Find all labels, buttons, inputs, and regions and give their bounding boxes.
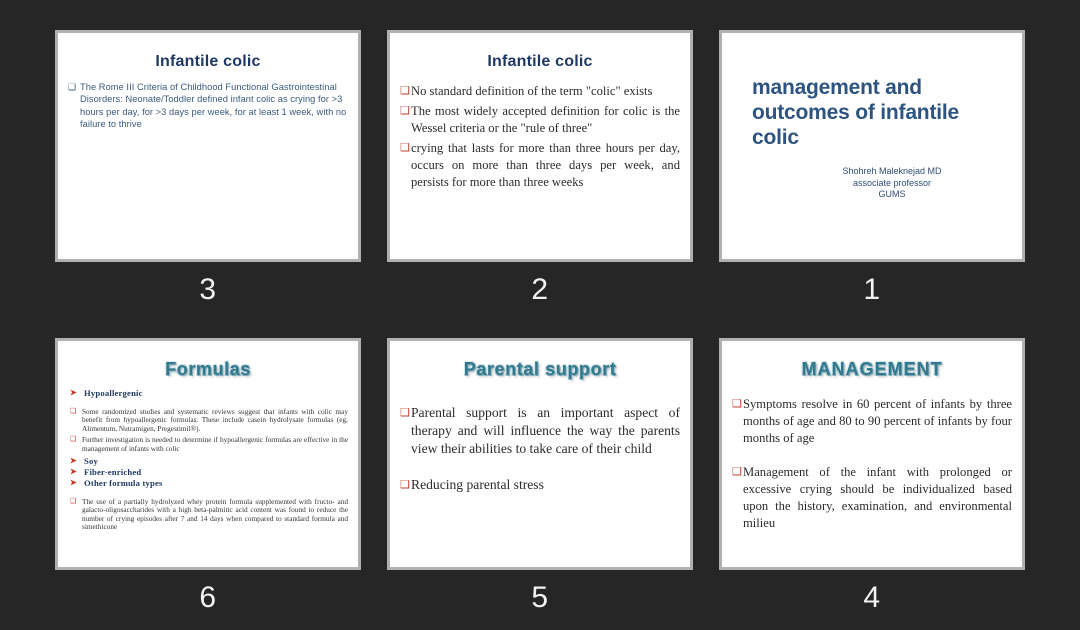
hollow-square-bullet-icon: ❑ (70, 498, 76, 506)
slide-number-1: 1 (719, 270, 1025, 310)
slide-frame-1[interactable]: management and outcomes of infantile col… (719, 30, 1025, 262)
subheading-text: Hypoallergenic (84, 388, 143, 398)
slide-thumbnail-grid: Infantile colic ❑The Rome III Criteria o… (0, 0, 1080, 630)
hollow-square-bullet-icon: ❑ (70, 436, 76, 444)
slide-frame-3[interactable]: Infantile colic ❑The Rome III Criteria o… (55, 30, 361, 262)
bullet-text: Management of the infant with prolonged … (743, 465, 1012, 530)
list-item: ❑Parental support is an important aspect… (400, 404, 680, 458)
list-item: ❑Reducing parental stress (400, 476, 680, 494)
bullet-text: The most widely accepted definition for … (411, 104, 680, 135)
slide-body-2: ❑No standard definition of the term "col… (400, 81, 680, 191)
author-block: Shohreh Maleknejad MD associate professo… (732, 166, 1012, 201)
hollow-square-bullet-icon: ❑ (70, 408, 76, 416)
slide-number-6: 6 (55, 578, 361, 618)
slide-frame-2[interactable]: Infantile colic ❑No standard definition … (387, 30, 693, 262)
bullet-text: Reducing parental stress (411, 477, 544, 492)
list-item: ❑No standard definition of the term "col… (400, 83, 680, 100)
author-name: Shohreh Maleknejad MD (772, 166, 1012, 178)
slide-frame-6[interactable]: Formulas ➤ Hypoallergenic ❑Some randomiz… (55, 338, 361, 570)
slide-thumbnail-5[interactable]: Parental support ❑Parental support is an… (387, 338, 693, 618)
slide-number-5: 5 (387, 578, 693, 618)
hollow-square-bullet-icon: ❑ (400, 83, 410, 100)
list-item: ❑The Rome III Criteria of Childhood Func… (68, 81, 348, 131)
bullet-text: The use of a partially hydrolyzed whey p… (82, 497, 348, 531)
subheading-text: Other formula types (84, 478, 163, 488)
arrow-bullet-icon: ➤ (70, 387, 77, 398)
hollow-square-bullet-icon: ❑ (400, 140, 410, 157)
author-affiliation: GUMS (772, 189, 1012, 201)
slide-thumbnail-6[interactable]: Formulas ➤ Hypoallergenic ❑Some randomiz… (55, 338, 361, 618)
slide-bullets-4: ❑Symptoms resolve in 60 percent of infan… (732, 396, 1012, 532)
slide-title-2: Infantile colic (400, 53, 680, 71)
slide-content-4: MANAGEMENT ❑Symptoms resolve in 60 perce… (722, 341, 1022, 567)
slide-number-4: 4 (719, 578, 1025, 618)
slide-content-2: Infantile colic ❑No standard definition … (390, 33, 690, 259)
list-item: ❑The most widely accepted definition for… (400, 103, 680, 137)
slide-body-4: ❑Symptoms resolve in 60 percent of infan… (732, 388, 1012, 532)
hollow-square-bullet-icon: ❑ (400, 404, 410, 422)
bullet-text: Parental support is an important aspect … (411, 405, 680, 456)
bullet-text: crying that lasts for more than three ho… (411, 141, 680, 189)
slide-content-3: Infantile colic ❑The Rome III Criteria o… (58, 33, 358, 259)
author-role: associate professor (772, 178, 1012, 190)
slide-content-6: Formulas ➤ Hypoallergenic ❑Some randomiz… (58, 341, 358, 567)
subheading-soy: ➤ Soy (68, 456, 348, 467)
slide-title-3: Infantile colic (68, 53, 348, 71)
slide-thumbnail-4[interactable]: MANAGEMENT ❑Symptoms resolve in 60 perce… (719, 338, 1025, 618)
slide-content-5: Parental support ❑Parental support is an… (390, 341, 690, 567)
slide-title-4: MANAGEMENT (732, 359, 1012, 380)
arrow-bullet-icon: ➤ (70, 477, 77, 488)
slide-frame-5[interactable]: Parental support ❑Parental support is an… (387, 338, 693, 570)
hollow-square-bullet-icon: ❑ (400, 476, 410, 494)
subheading-fiber-enriched: ➤ Fiber-enriched (68, 467, 348, 478)
subheading-text: Fiber-enriched (84, 467, 141, 477)
slide-bullets-5: ❑Parental support is an important aspect… (400, 404, 680, 494)
slide-bullets-2: ❑No standard definition of the term "col… (400, 83, 680, 191)
arrow-bullet-icon: ➤ (70, 455, 77, 466)
hollow-square-bullet-icon: ❑ (732, 396, 742, 413)
slide-frame-4[interactable]: MANAGEMENT ❑Symptoms resolve in 60 perce… (719, 338, 1025, 570)
list-item: ❑Management of the infant with prolonged… (732, 464, 1012, 532)
slide-number-3: 3 (55, 270, 361, 310)
slide-number-2: 2 (387, 270, 693, 310)
subheading-text: Soy (84, 456, 98, 466)
slide-thumbnail-1[interactable]: management and outcomes of infantile col… (719, 30, 1025, 310)
list-item: ❑Further investigation is needed to dete… (68, 436, 348, 453)
hollow-square-bullet-icon: ❑ (732, 464, 742, 481)
slide-bullets-6-group-1: ❑Some randomized studies and systematic … (68, 408, 348, 453)
bullet-text: Some randomized studies and systematic r… (82, 407, 348, 433)
slide-thumbnail-3[interactable]: Infantile colic ❑The Rome III Criteria o… (55, 30, 361, 310)
hollow-square-bullet-icon: ❑ (68, 81, 76, 93)
slide-title-5: Parental support (400, 359, 680, 380)
list-item: ❑Symptoms resolve in 60 percent of infan… (732, 396, 1012, 447)
bullet-text: Symptoms resolve in 60 percent of infant… (743, 397, 1012, 445)
presentation-title: management and outcomes of infantile col… (752, 75, 990, 150)
arrow-bullet-icon: ➤ (70, 466, 77, 477)
hollow-square-bullet-icon: ❑ (400, 103, 410, 120)
list-item: ❑crying that lasts for more than three h… (400, 140, 680, 191)
slide-body-5: ❑Parental support is an important aspect… (400, 388, 680, 494)
subheading-hypoallergenic: ➤ Hypoallergenic (68, 388, 348, 399)
slide-bullets-3: ❑The Rome III Criteria of Childhood Func… (68, 81, 348, 131)
bullet-text: Further investigation is needed to deter… (82, 435, 348, 452)
slide-content-1: management and outcomes of infantile col… (722, 33, 1022, 259)
slide-title-6: Formulas (68, 359, 348, 380)
slide-thumbnail-2[interactable]: Infantile colic ❑No standard definition … (387, 30, 693, 310)
list-item: ❑The use of a partially hydrolyzed whey … (68, 498, 348, 532)
bullet-text: The Rome III Criteria of Childhood Funct… (80, 82, 346, 129)
bullet-text: No standard definition of the term "coli… (411, 84, 652, 98)
list-item: ❑Some randomized studies and systematic … (68, 408, 348, 433)
slide-bullets-6-group-2: ❑The use of a partially hydrolyzed whey … (68, 498, 348, 532)
subheading-other-formula-types: ➤ Other formula types (68, 478, 348, 489)
